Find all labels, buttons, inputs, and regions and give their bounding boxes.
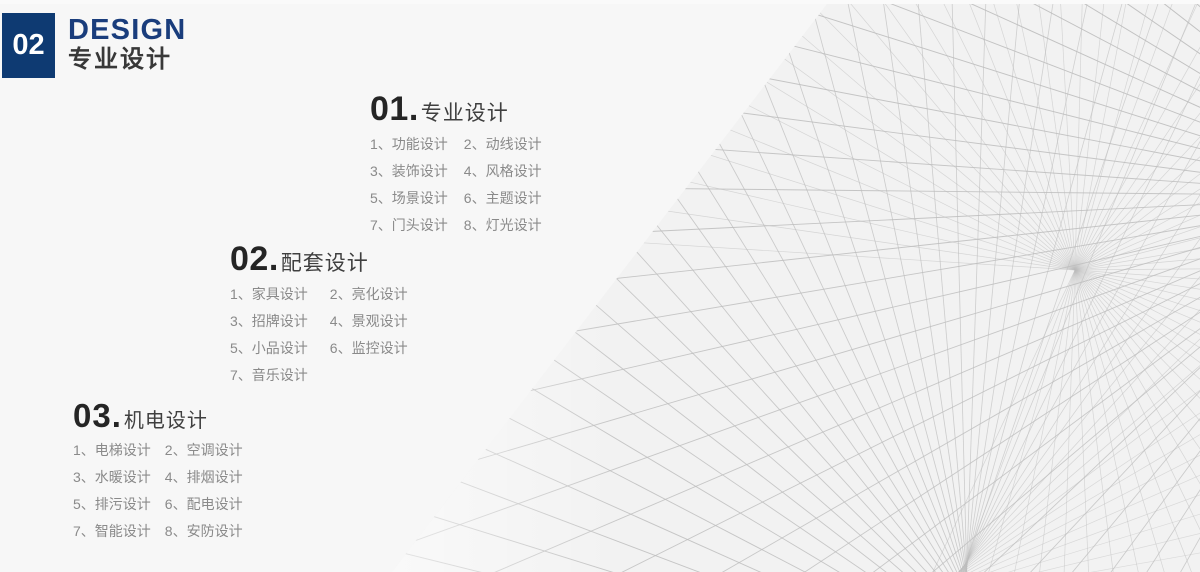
section-item-list-03: 1、电梯设计 2、空调设计 3、水暖设计 4、排烟设计 5、排污设计 6、配电设…	[73, 440, 243, 542]
list-item: 8、安防设计	[165, 521, 243, 542]
list-item: 8、灯光设计	[464, 215, 542, 236]
section-number-02: 02.	[230, 242, 279, 276]
list-item: 1、家具设计	[230, 284, 308, 305]
list-item: 4、景观设计	[330, 311, 408, 332]
section-heading-02: 02. 配套设计	[230, 242, 408, 276]
list-item: 3、水暖设计	[73, 467, 151, 488]
list-item: 3、装饰设计	[370, 161, 448, 182]
slide-canvas: 02 DESIGN 专业设计 01. 专业设计 1、功能设计 2、动线设计 3、…	[0, 0, 1200, 572]
list-item: 7、智能设计	[73, 521, 151, 542]
section-number-03: 03.	[73, 399, 122, 432]
section-number-badge: 02	[2, 13, 55, 78]
slide-header: 02 DESIGN 专业设计	[2, 13, 186, 78]
list-item: 2、亮化设计	[330, 284, 408, 305]
list-item: 6、主题设计	[464, 188, 542, 209]
section-block-03: 03. 机电设计 1、电梯设计 2、空调设计 3、水暖设计 4、排烟设计 5、排…	[73, 399, 243, 542]
list-item: 4、风格设计	[464, 161, 542, 182]
section-heading-03: 03. 机电设计	[73, 399, 243, 432]
list-item: 7、门头设计	[370, 215, 448, 236]
title-chinese: 专业设计	[68, 46, 186, 75]
top-hairline	[0, 0, 1200, 4]
list-item: 2、空调设计	[165, 440, 243, 461]
section-block-02: 02. 配套设计 1、家具设计 2、亮化设计 3、招牌设计 4、景观设计 5、小…	[230, 242, 408, 386]
header-title-group: DESIGN 专业设计	[68, 13, 186, 75]
list-item: 6、配电设计	[165, 494, 243, 515]
list-item: 7、音乐设计	[230, 365, 308, 386]
list-item: 2、动线设计	[464, 134, 542, 155]
section-title-03: 机电设计	[124, 411, 208, 431]
list-item: 6、监控设计	[330, 338, 408, 359]
list-item: 5、场景设计	[370, 188, 448, 209]
list-item: 1、电梯设计	[73, 440, 151, 461]
badge-number-label: 02	[12, 31, 44, 60]
section-title-01: 专业设计	[421, 103, 509, 124]
section-item-list-02: 1、家具设计 2、亮化设计 3、招牌设计 4、景观设计 5、小品设计 6、监控设…	[230, 284, 408, 386]
list-item: 3、招牌设计	[230, 311, 308, 332]
section-heading-01: 01. 专业设计	[370, 92, 542, 126]
list-item: 1、功能设计	[370, 134, 448, 155]
list-item: 4、排烟设计	[165, 467, 243, 488]
list-item: 5、小品设计	[230, 338, 308, 359]
section-block-01: 01. 专业设计 1、功能设计 2、动线设计 3、装饰设计 4、风格设计 5、场…	[370, 92, 542, 236]
section-title-02: 配套设计	[281, 253, 369, 274]
section-item-list-01: 1、功能设计 2、动线设计 3、装饰设计 4、风格设计 5、场景设计 6、主题设…	[370, 134, 542, 236]
title-english: DESIGN	[68, 15, 186, 45]
list-item: 5、排污设计	[73, 494, 151, 515]
section-number-01: 01.	[370, 92, 419, 126]
